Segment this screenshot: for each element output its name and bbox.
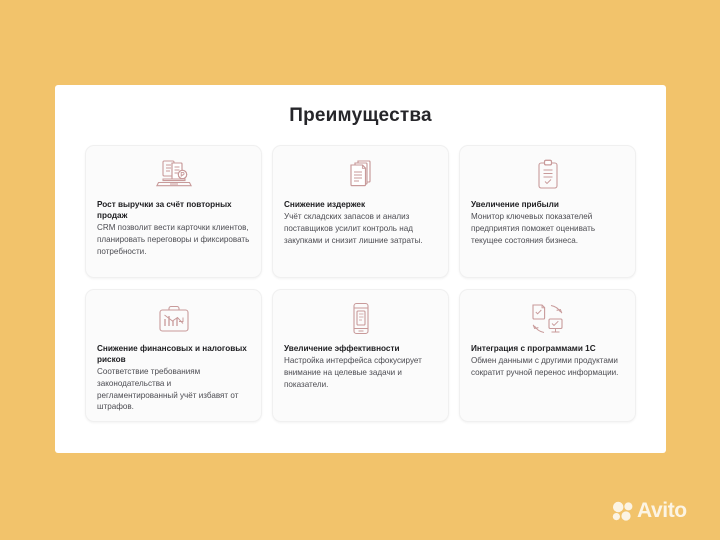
- benefit-card-title: Снижение издержек: [284, 199, 437, 210]
- benefit-card-profit-increase[interactable]: Увеличение прибыли Монитор ключевых пока…: [459, 145, 636, 278]
- benefit-card-body: Обмен данными с другими продуктами сокра…: [471, 355, 624, 378]
- stacked-documents-icon: [284, 155, 437, 195]
- benefit-card-1c-integration[interactable]: Интеграция с программами 1С Обмен данным…: [459, 289, 636, 422]
- page-title: Преимущества: [55, 105, 666, 127]
- benefit-card-cost-reduction[interactable]: Снижение издержек Учёт складских запасов…: [272, 145, 449, 278]
- benefit-card-body: Монитор ключевых показателей предприятия…: [471, 211, 624, 246]
- briefcase-declining-chart-icon: [97, 299, 250, 339]
- benefit-card-title: Увеличение эффективности: [284, 343, 437, 354]
- benefit-card-body: Соответствие требованиям законодательств…: [97, 366, 250, 413]
- benefits-panel: Преимущества Рост выручки: [55, 85, 666, 453]
- clipboard-checklist-icon: [471, 155, 624, 195]
- avito-watermark: Avito: [612, 500, 687, 521]
- benefit-card-revenue-growth[interactable]: Рост выручки за счёт повторных продаж CR…: [85, 145, 262, 278]
- data-sync-exchange-icon: [471, 299, 624, 339]
- laptop-document-ruble-icon: [97, 155, 250, 195]
- mobile-phone-interface-icon: [284, 299, 437, 339]
- avito-logo-icon: [612, 501, 634, 521]
- benefit-card-title: Рост выручки за счёт повторных продаж: [97, 199, 250, 221]
- benefit-card-title: Снижение финансовых и налоговых рисков: [97, 343, 250, 365]
- benefit-card-body: Настройка интерфейса сфокусирует внимани…: [284, 355, 437, 390]
- benefit-card-risk-reduction[interactable]: Снижение финансовых и налоговых рисков С…: [85, 289, 262, 422]
- benefits-card-grid: Рост выручки за счёт повторных продаж CR…: [85, 145, 636, 422]
- benefit-card-body: CRM позволит вести карточки клиентов, пл…: [97, 222, 250, 257]
- benefit-card-title: Увеличение прибыли: [471, 199, 624, 210]
- benefit-card-efficiency-increase[interactable]: Увеличение эффективности Настройка интер…: [272, 289, 449, 422]
- avito-wordmark: Avito: [637, 500, 687, 521]
- benefit-card-title: Интеграция с программами 1С: [471, 343, 624, 354]
- benefit-card-body: Учёт складских запасов и анализ поставщи…: [284, 211, 437, 246]
